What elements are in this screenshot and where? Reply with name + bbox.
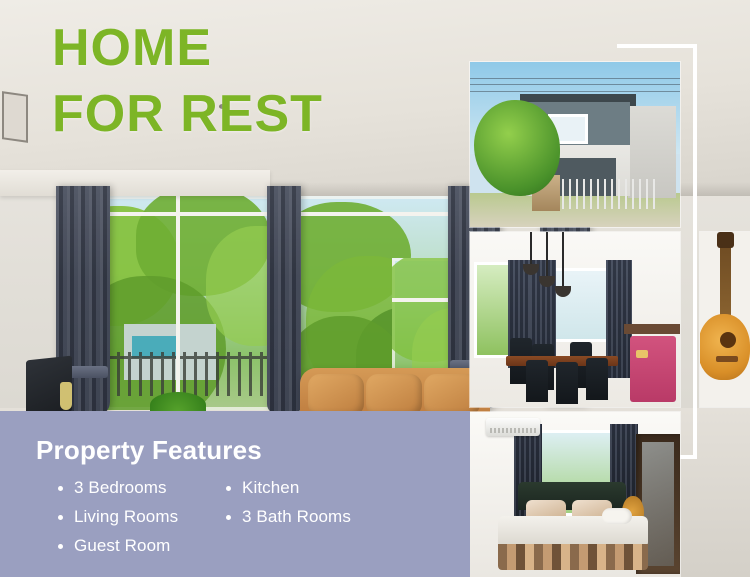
property-features-panel: Property Features 3 Bedrooms Living Room… xyxy=(0,411,470,577)
bullet-icon xyxy=(58,544,63,549)
front-gate xyxy=(562,179,658,209)
feature-label: 3 Bedrooms xyxy=(74,478,167,498)
feature-item: 3 Bath Rooms xyxy=(226,507,416,527)
property-poster: HOME FOR REST xyxy=(0,0,750,577)
feature-label: Kitchen xyxy=(242,478,299,498)
page-title: HOME FOR REST xyxy=(52,22,323,140)
bullet-icon xyxy=(58,486,63,491)
feature-item: Kitchen xyxy=(226,478,416,498)
feature-label: 3 Bath Rooms xyxy=(242,507,351,527)
guitar-bridge xyxy=(716,356,738,362)
photo-dining-room xyxy=(470,232,680,407)
features-heading: Property Features xyxy=(36,435,470,466)
features-column-1: 3 Bedrooms Living Rooms Guest Room xyxy=(36,478,216,565)
features-columns: 3 Bedrooms Living Rooms Guest Room Kitch… xyxy=(36,478,470,565)
guitar-soundhole xyxy=(720,332,736,348)
feature-item: Guest Room xyxy=(58,536,216,556)
feature-label: Guest Room xyxy=(74,536,170,556)
rolled-towel xyxy=(602,508,632,524)
dining-chair xyxy=(526,360,548,402)
refrigerator xyxy=(630,336,676,402)
feature-label: Living Rooms xyxy=(74,507,178,527)
features-column-2: Kitchen 3 Bath Rooms xyxy=(216,478,416,565)
front-tree xyxy=(474,100,560,196)
bullet-icon xyxy=(226,515,231,520)
guitar-neck xyxy=(720,238,731,322)
air-conditioner xyxy=(486,418,540,436)
bullet-icon xyxy=(226,486,231,491)
curtain-pelmet xyxy=(0,170,270,196)
photo-guitar-corner xyxy=(700,232,750,407)
kitchen-counter xyxy=(624,324,680,334)
curtain-panel xyxy=(267,186,301,414)
photo-bedroom xyxy=(470,412,680,577)
title-line-2: FOR REST xyxy=(52,88,323,140)
bed-skirt xyxy=(498,544,648,570)
feature-item: 3 Bedrooms xyxy=(58,478,216,498)
photo-house-exterior xyxy=(470,62,680,227)
feature-item: Living Rooms xyxy=(58,507,216,527)
wall-picture-frame xyxy=(2,91,28,143)
bullet-icon xyxy=(58,515,63,520)
dining-chair xyxy=(556,362,578,404)
vase xyxy=(60,382,72,410)
dining-chair xyxy=(586,358,608,400)
guitar-headstock xyxy=(717,232,734,248)
title-line-1: HOME xyxy=(52,19,212,77)
